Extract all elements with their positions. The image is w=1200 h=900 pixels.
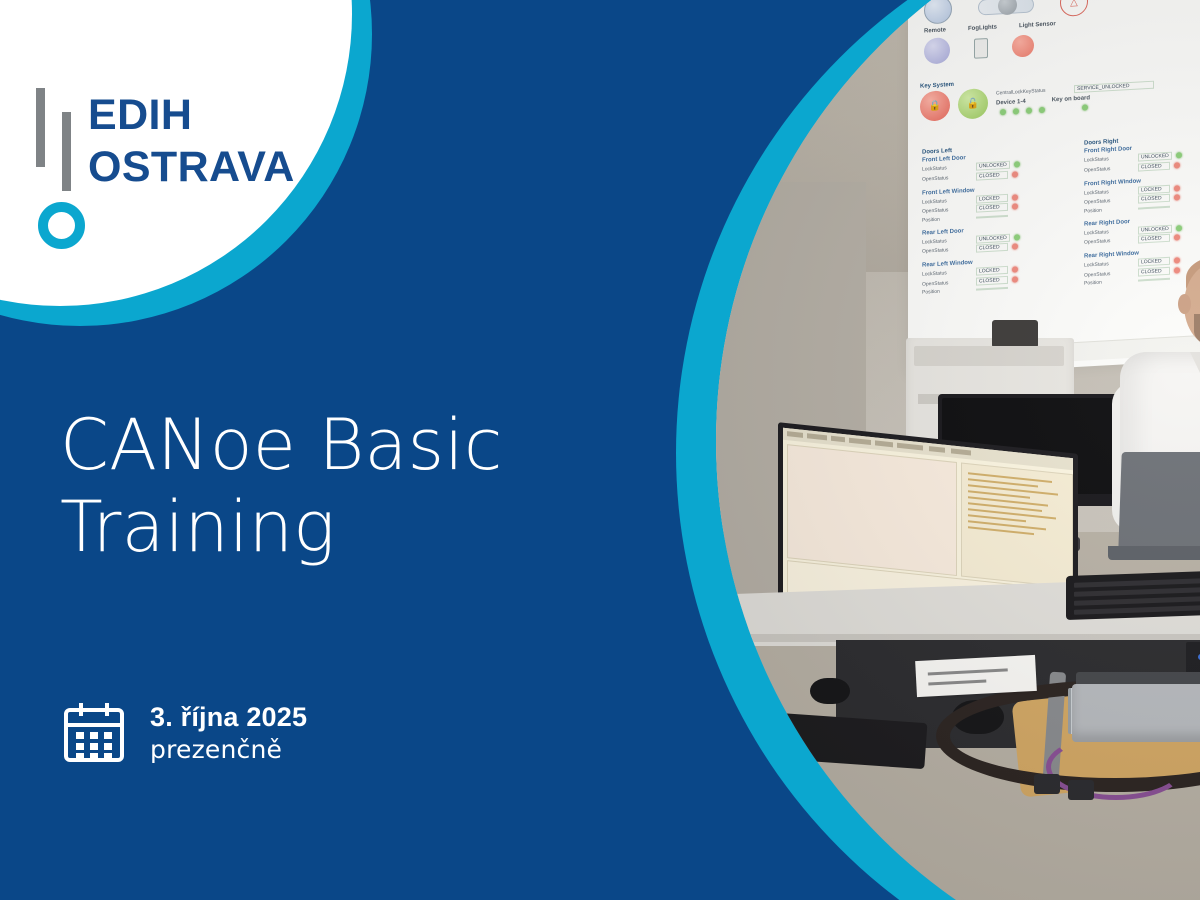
page-title-line-2: Training [60, 486, 620, 568]
event-text-block: 3. října 2025 prezenčně [150, 700, 307, 766]
training-room-photo: Lights Turn Signal Horn △ [716, 0, 1200, 900]
logo-bar-short-icon [62, 112, 71, 191]
logo-circle-ring-icon [38, 202, 85, 249]
event-info: 3. října 2025 prezenčně [62, 700, 307, 766]
page-title-line-1: CANoe Basic [60, 404, 620, 486]
event-mode: prezenčně [150, 734, 307, 766]
logo-bar-tall-icon [36, 88, 45, 167]
logo-line-2: OSTRAVA [88, 141, 295, 193]
photo-vignette [716, 0, 1200, 900]
page-title: CANoe Basic Training [60, 404, 620, 568]
slide-canvas: EDIH OSTRAVA CANoe Basic Training 3. říj… [0, 0, 1200, 900]
photo-circle-mask: Lights Turn Signal Horn △ [716, 0, 1200, 900]
logo-line-1: EDIH [88, 89, 295, 141]
event-date: 3. října 2025 [150, 700, 307, 734]
calendar-icon [62, 701, 126, 765]
edih-ostrava-logo[interactable]: EDIH OSTRAVA [36, 88, 366, 238]
logo-wordmark: EDIH OSTRAVA [88, 89, 295, 193]
